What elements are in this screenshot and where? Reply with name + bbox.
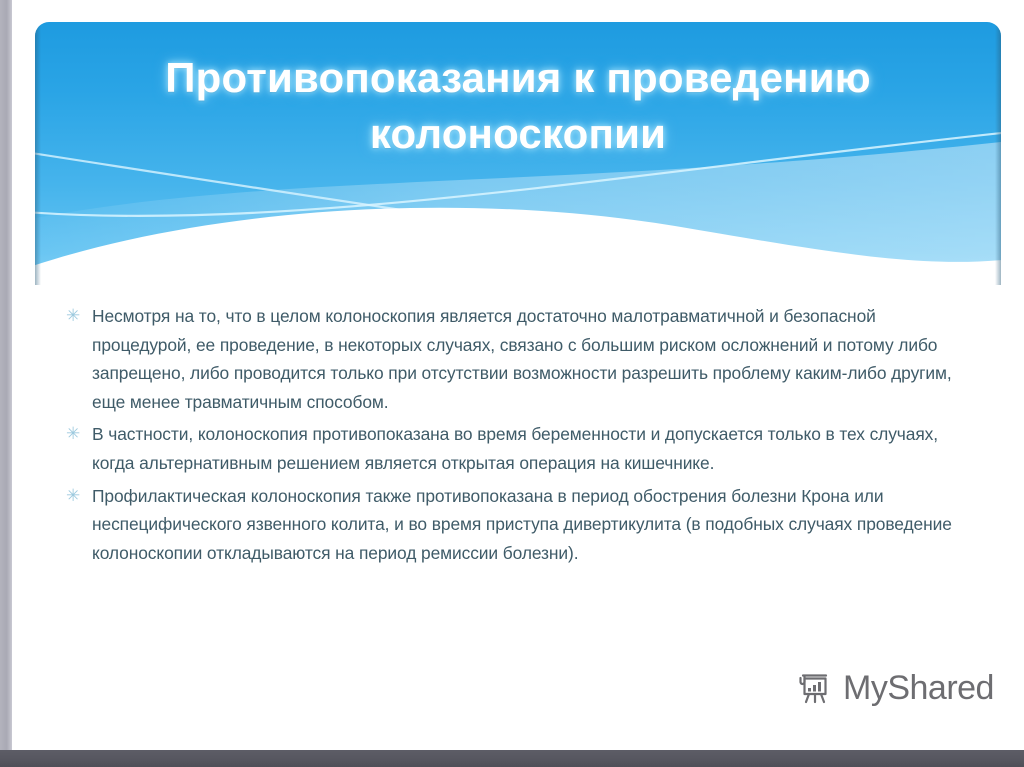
asterisk-bullet-icon: ✳: [58, 302, 92, 329]
bullet-item: ✳ Профилактическая колоноскопия также пр…: [58, 482, 968, 568]
asterisk-bullet-icon: ✳: [58, 420, 92, 447]
slide-screenshot: Противопоказания к проведению колоноскоп…: [0, 0, 1024, 767]
watermark-label: MyShared: [843, 671, 994, 705]
slide-canvas: Противопоказания к проведению колоноскоп…: [12, 0, 1024, 750]
myshared-watermark: MyShared: [795, 668, 994, 708]
slide-title-line-2: колоноскопии: [35, 106, 1001, 162]
slide-title: Противопоказания к проведению колоноскоп…: [35, 50, 1001, 162]
bullet-text: Несмотря на то, что в целом колоноскопия…: [92, 302, 968, 416]
slide-body: ✳ Несмотря на то, что в целом колоноскоп…: [58, 302, 968, 571]
title-banner: Противопоказания к проведению колоноскоп…: [35, 22, 1001, 285]
bottom-frame-bar: [0, 750, 1024, 767]
bullet-item: ✳ В частности, колоноскопия противопоказ…: [58, 420, 968, 477]
presentation-board-icon: [795, 668, 835, 708]
left-frame-bar: [0, 0, 12, 752]
slide-title-line-1: Противопоказания к проведению: [35, 50, 1001, 106]
bullet-text: В частности, колоноскопия противопоказан…: [92, 420, 968, 477]
bullet-text: Профилактическая колоноскопия также прот…: [92, 482, 968, 568]
asterisk-bullet-icon: ✳: [58, 482, 92, 509]
bullet-item: ✳ Несмотря на то, что в целом колоноскоп…: [58, 302, 968, 416]
